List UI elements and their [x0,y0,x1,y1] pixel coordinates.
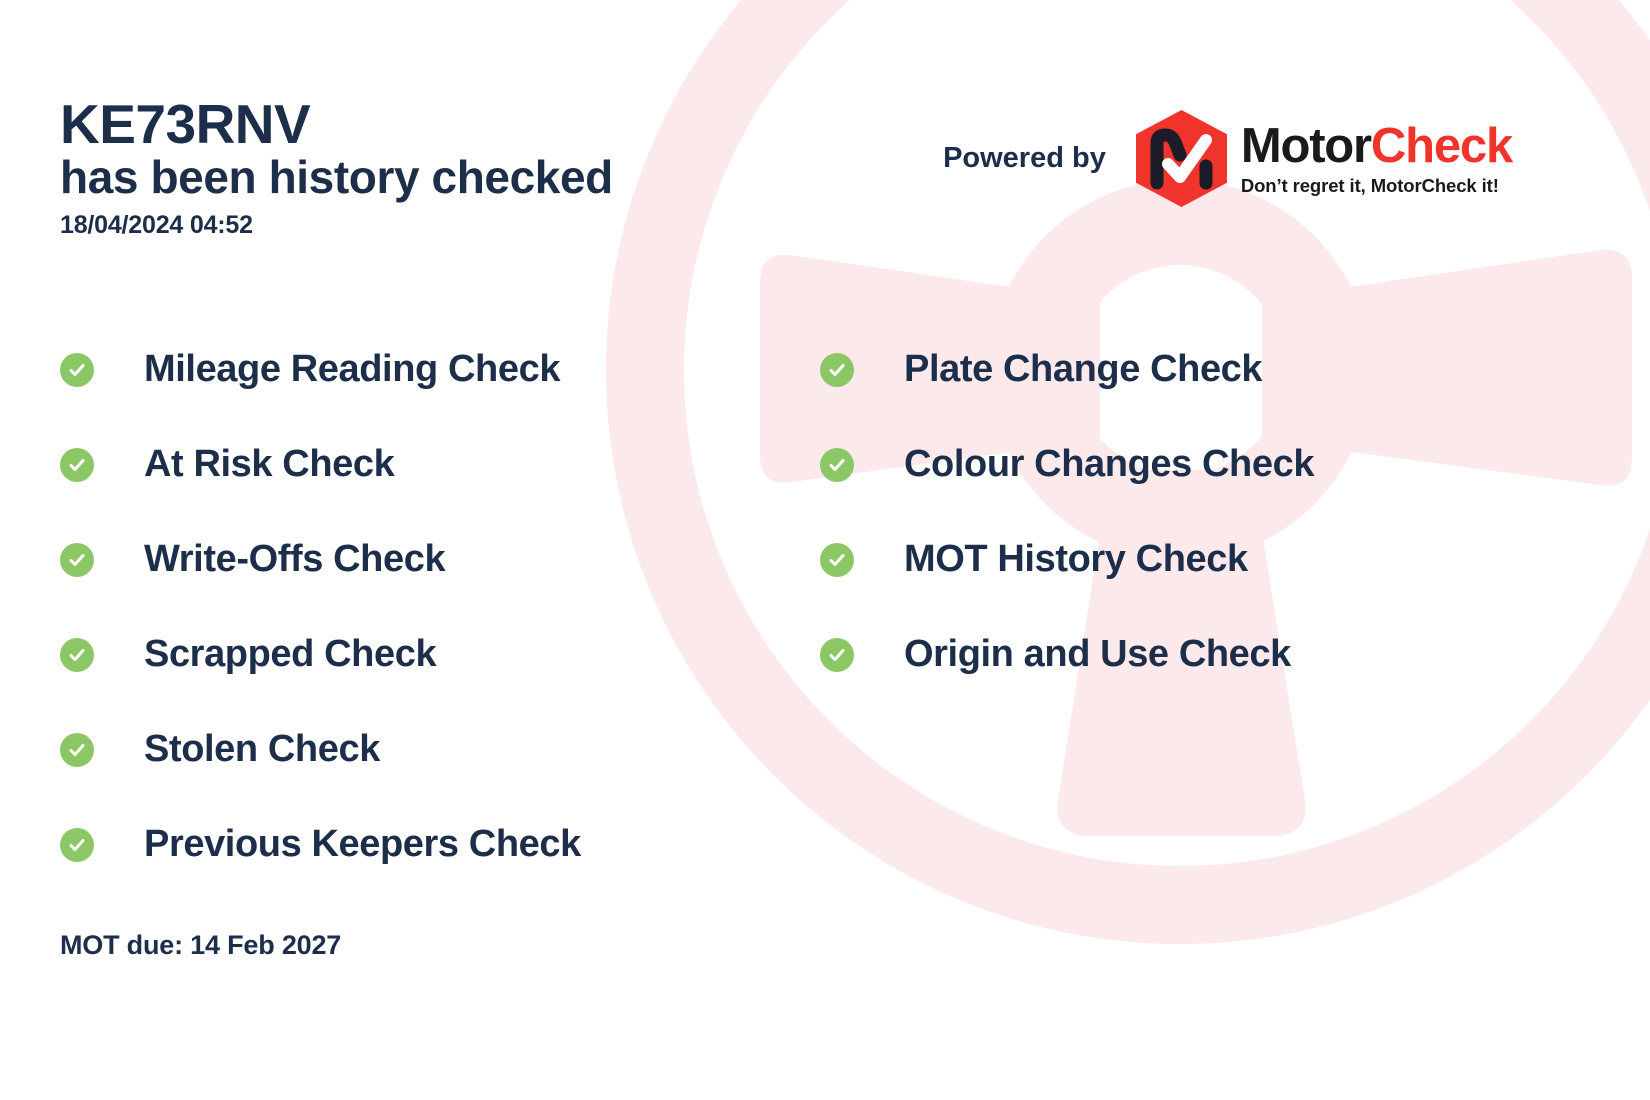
check-circle-icon [60,733,94,767]
check-label: Write-Offs Check [144,538,445,581]
check-label: Previous Keepers Check [144,823,581,866]
mot-due-text: MOT due: 14 Feb 2027 [60,930,341,961]
check-item-colour-changes: Colour Changes Check [820,417,1580,512]
check-label: Scrapped Check [144,633,436,676]
wordmark-motor: Motor [1241,119,1371,173]
check-circle-icon [820,353,854,387]
check-label: At Risk Check [144,443,394,486]
check-circle-icon [60,448,94,482]
check-item-mot-history: MOT History Check [820,512,1580,607]
checks-right-column: Plate Change Check Colour Changes Check … [820,322,1580,892]
checks-left-column: Mileage Reading Check At Risk Check Writ… [60,322,820,892]
check-item-origin-and-use: Origin and Use Check [820,607,1580,702]
motorcheck-wordmark-block: MotorCheck Don’t regret it, MotorCheck i… [1241,122,1512,196]
check-timestamp: 18/04/2024 04:52 [60,211,613,240]
motorcheck-logo[interactable]: MotorCheck Don’t regret it, MotorCheck i… [1136,110,1512,207]
check-item-stolen: Stolen Check [60,702,820,797]
check-circle-icon [820,543,854,577]
check-label: Stolen Check [144,728,380,771]
check-label: Mileage Reading Check [144,348,560,391]
check-item-plate-change: Plate Change Check [820,322,1580,417]
check-circle-icon [60,638,94,672]
header-block: KE73RNV has been history checked 18/04/2… [60,96,613,240]
check-circle-icon [60,543,94,577]
page-title-registration: KE73RNV [60,96,613,152]
wordmark-check: Check [1371,119,1512,173]
motorcheck-wordmark: MotorCheck [1241,122,1512,171]
check-label: Plate Change Check [904,348,1262,391]
vehicle-history-check-card: KE73RNV has been history checked 18/04/2… [0,0,1650,1100]
checks-columns: Mileage Reading Check At Risk Check Writ… [60,322,1590,892]
powered-by-label: Powered by [943,142,1106,175]
check-item-scrapped: Scrapped Check [60,607,820,702]
page-subtitle: has been history checked [60,152,613,204]
powered-by-block: Powered by MotorCheck Don’t regret it, M… [943,110,1512,207]
check-label: Colour Changes Check [904,443,1314,486]
check-circle-icon [820,448,854,482]
check-item-mileage-reading: Mileage Reading Check [60,322,820,417]
check-label: Origin and Use Check [904,633,1291,676]
check-item-at-risk: At Risk Check [60,417,820,512]
check-label: MOT History Check [904,538,1248,581]
check-item-previous-keepers: Previous Keepers Check [60,797,820,892]
motorcheck-hexagon-icon [1136,110,1227,207]
motorcheck-tagline: Don’t regret it, MotorCheck it! [1241,177,1512,196]
check-item-write-offs: Write-Offs Check [60,512,820,607]
check-circle-icon [820,638,854,672]
check-circle-icon [60,828,94,862]
check-circle-icon [60,353,94,387]
